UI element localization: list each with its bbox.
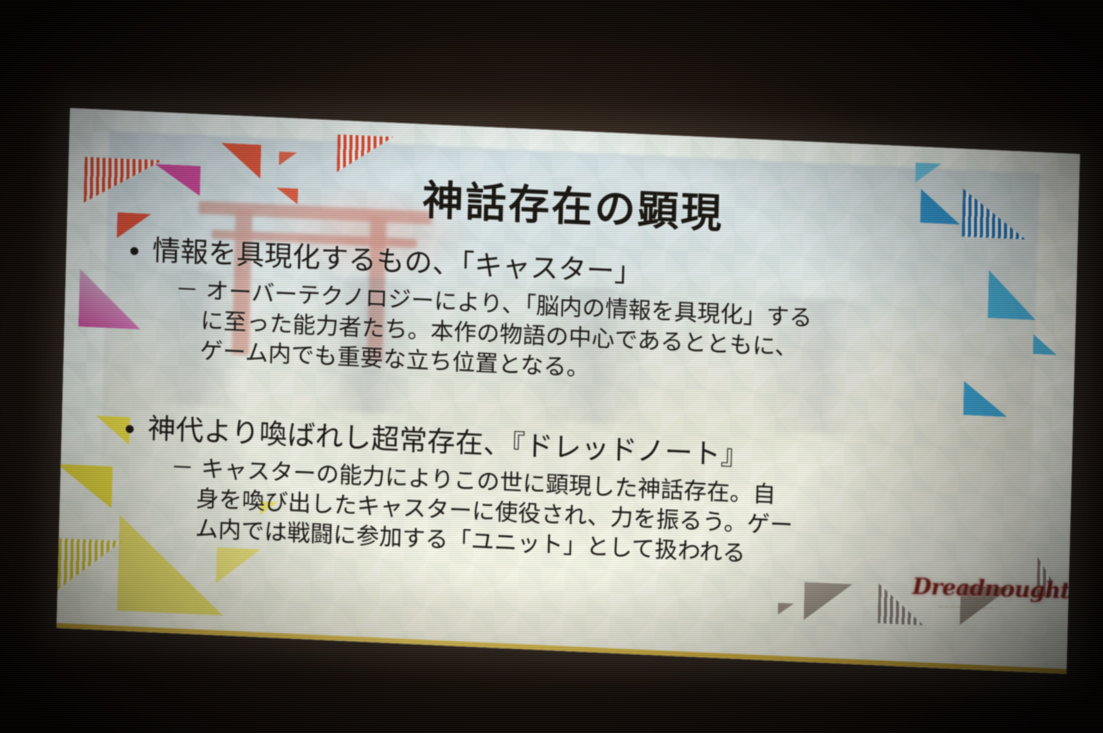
dark-room-background [0, 0, 1103, 733]
